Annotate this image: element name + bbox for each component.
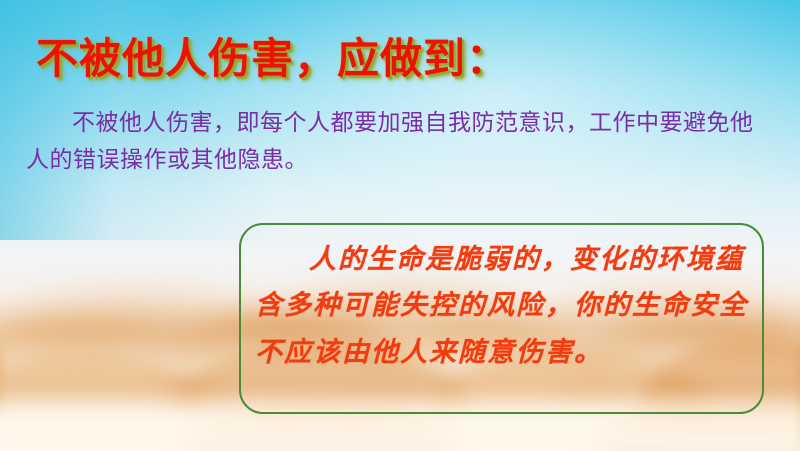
page-title: 不被他人伤害，应做到： — [36, 34, 509, 84]
quote-text: 人的生命是脆弱的，变化的环境蕴含多种可能失控的风险，你的生命安全不应该由他人来随… — [255, 237, 755, 376]
body-paragraph: 不被他人伤害，即每个人都要加强自我防范意识，工作中要避免他人的错误操作或其他隐患… — [26, 104, 776, 179]
slide-canvas: 不被他人伤害，应做到： 不被他人伤害，即每个人都要加强自我防范意识，工作中要避免… — [0, 0, 800, 451]
